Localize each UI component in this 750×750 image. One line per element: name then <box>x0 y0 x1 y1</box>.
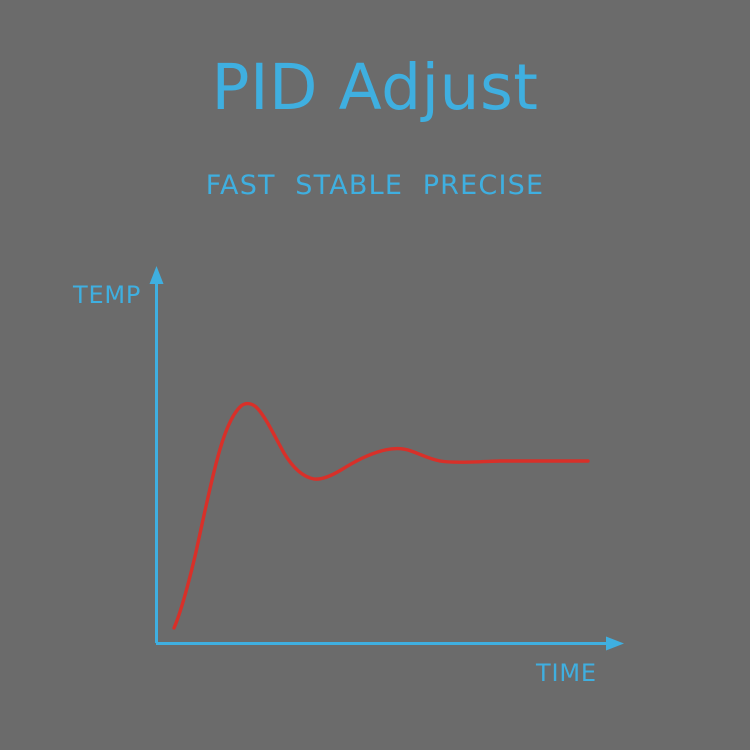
x-axis-arrow-icon <box>606 637 624 651</box>
pid-response-chart <box>0 0 750 750</box>
x-axis-label: TIME <box>536 661 597 685</box>
pid-adjust-poster: PID Adjust FAST STABLE PRECISE TEMP TIME <box>0 0 750 750</box>
y-axis-label: TEMP <box>73 283 141 307</box>
pid-response-curve <box>174 404 588 628</box>
y-axis-arrow-icon <box>150 266 164 284</box>
chart-svg <box>0 0 750 750</box>
